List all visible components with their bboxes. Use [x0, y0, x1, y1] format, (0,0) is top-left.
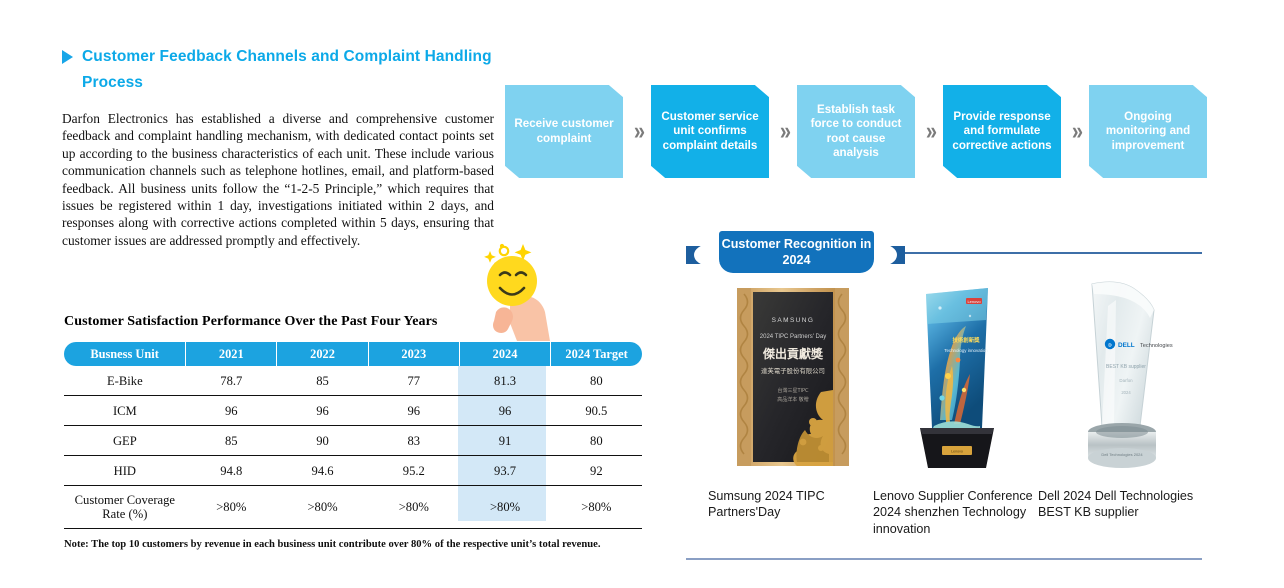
cell-2023: >80% [368, 486, 459, 529]
trophy-subtitle-line: Technology innovation [944, 348, 988, 353]
cell-2024: >80% [459, 486, 550, 529]
smiley-face-icon [487, 256, 537, 306]
award-media: 技術創新獎 Technology innovation Lenovo Lenov… [873, 276, 1038, 476]
column-header-2024: 2024 [459, 342, 550, 366]
cell-unit: ICM [64, 396, 186, 426]
cell-2022: >80% [277, 486, 368, 529]
award-item: SAMSUNG 2024 TIPC Partners' Day 傑出貢獻獎 達芙… [708, 276, 873, 537]
process-step-3: Establish task force to conduct root cau… [797, 85, 915, 178]
cell-2024-target: >80% [551, 486, 642, 529]
process-flow-diagram: Receive customer complaint » Customer se… [505, 85, 1207, 178]
recognition-ribbon-banner: Customer Recognition in 2024 [686, 228, 1206, 274]
table-row: E-Bike 78.7 85 77 81.3 80 [64, 366, 642, 396]
trophy-engraving: BEST KB supplier [1106, 364, 1146, 370]
process-step-label: Ongoing monitoring and improvement [1095, 110, 1201, 154]
page-title: Customer Feedback Channels and Complaint… [82, 44, 492, 96]
svg-text:Lenovo: Lenovo [951, 450, 963, 454]
dell-glass-trophy-award-icon: D DELL Technologies BEST KB supplier Dar… [1058, 276, 1184, 476]
cell-unit: GEP [64, 426, 186, 456]
cell-2022: 94.6 [277, 456, 368, 486]
ribbon-tail-right [871, 246, 905, 264]
column-header-2023: 2023 [368, 342, 459, 366]
column-header-2022: 2022 [277, 342, 368, 366]
table-row: GEP 85 90 83 91 80 [64, 426, 642, 456]
table-title: Customer Satisfaction Performance Over t… [64, 314, 437, 330]
plaque-award-name: 傑出貢獻獎 [761, 346, 823, 361]
award-item: D DELL Technologies BEST KB supplier Dar… [1038, 276, 1203, 537]
ribbon-tail-left [686, 246, 720, 264]
cell-unit: HID [64, 456, 186, 486]
section-heading: Customer Feedback Channels and Complaint… [62, 44, 512, 96]
process-step-label: Establish task force to conduct root cau… [803, 103, 909, 161]
trophy-engraving: 2024 [1121, 390, 1131, 395]
lenovo-crystal-trophy-award-icon: 技術創新獎 Technology innovation Lenovo Lenov… [896, 280, 1016, 476]
award-media: SAMSUNG 2024 TIPC Partners' Day 傑出貢獻獎 達芙… [708, 276, 873, 476]
award-media: D DELL Technologies BEST KB supplier Dar… [1038, 276, 1203, 476]
process-step-label: Customer service unit confirms complaint… [657, 110, 763, 154]
svg-text:Lenovo: Lenovo [967, 299, 981, 304]
cell-2024: 81.3 [459, 366, 550, 396]
cell-2023: 95.2 [368, 456, 459, 486]
cell-2021: 85 [186, 426, 277, 456]
cell-2024: 96 [459, 396, 550, 426]
cell-2024: 91 [459, 426, 550, 456]
cell-2024-target: 90.5 [551, 396, 642, 426]
satisfaction-table-wrapper: Busness Unit 2021 2022 2023 2024 2024 Ta… [64, 342, 642, 529]
column-header-business-unit: Busness Unit [64, 342, 186, 366]
process-arrow-1-icon: » [623, 117, 651, 147]
award-item: 技術創新獎 Technology innovation Lenovo Lenov… [873, 276, 1038, 537]
table-header-row: Busness Unit 2021 2022 2023 2024 2024 Ta… [64, 342, 642, 366]
process-step-5: Ongoing monitoring and improvement [1089, 85, 1207, 178]
sparkle-ring-icon [500, 247, 508, 255]
cell-2022: 85 [277, 366, 368, 396]
samsung-plaque-award-icon: SAMSUNG 2024 TIPC Partners' Day 傑出貢獻獎 達芙… [717, 280, 865, 476]
award-caption: Sumsung 2024 TIPC Partners'Day [708, 488, 873, 521]
cell-2023: 77 [368, 366, 459, 396]
plaque-subtext: 台灣三星TIPC [777, 387, 809, 394]
plaque-brand: SAMSUNG [771, 317, 814, 324]
cell-unit: E-Bike [64, 366, 186, 396]
process-step-2: Customer service unit confirms complaint… [651, 85, 769, 178]
table-row: HID 94.8 94.6 95.2 93.7 92 [64, 456, 642, 486]
cell-2024-target: 80 [551, 366, 642, 396]
process-arrow-2-icon: » [769, 117, 797, 147]
process-step-label: Provide response and formulate correctiv… [949, 110, 1055, 154]
panel-bottom-divider [686, 558, 1202, 560]
column-header-2021: 2021 [186, 342, 277, 366]
intro-paragraph: Darfon Electronics has established a div… [62, 110, 494, 249]
award-caption: Lenovo Supplier Conference 2024 shenzhen… [873, 488, 1038, 537]
cell-2021: 94.8 [186, 456, 277, 486]
trophy-base-engraving: Dell Technologies 2024 [1101, 452, 1143, 457]
cell-2023: 83 [368, 426, 459, 456]
process-step-1: Receive customer complaint [505, 85, 623, 178]
cell-2021: 78.7 [186, 366, 277, 396]
trophy-engraving: Darfon [1119, 378, 1133, 383]
award-caption: Dell 2024 Dell Technologies BEST KB supp… [1038, 488, 1203, 521]
cell-2024-target: 92 [551, 456, 642, 486]
customer-recognition-panel: Customer Recognition in 2024 [686, 228, 1206, 568]
awards-row: SAMSUNG 2024 TIPC Partners' Day 傑出貢獻獎 達芙… [708, 276, 1208, 537]
plaque-subtext: 高品洋本 敬贈 [777, 396, 809, 403]
svg-text:DELL: DELL [1118, 342, 1135, 349]
ribbon-title: Customer Recognition in 2024 [719, 231, 874, 273]
column-header-2024-target: 2024 Target [551, 342, 642, 366]
cell-unit: Customer Coverage Rate (%) [64, 486, 186, 529]
cell-2024-target: 80 [551, 426, 642, 456]
process-arrow-3-icon: » [915, 117, 943, 147]
triangle-right-icon [62, 50, 73, 64]
cell-2022: 90 [277, 426, 368, 456]
customer-satisfaction-table: Busness Unit 2021 2022 2023 2024 2024 Ta… [64, 342, 642, 529]
plaque-event: 2024 TIPC Partners' Day [759, 334, 825, 340]
svg-text:Technologies: Technologies [1140, 343, 1173, 349]
cell-2021: >80% [186, 486, 277, 529]
cell-2023: 96 [368, 396, 459, 426]
plaque-company: 達芙電子股份有限公司 [761, 366, 825, 375]
process-arrow-4-icon: » [1061, 117, 1089, 147]
table-note: Note: The top 10 customers by revenue in… [64, 539, 601, 550]
cell-2024: 93.7 [459, 456, 550, 486]
trophy-title-line: 技術創新獎 [952, 336, 980, 344]
process-step-4: Provide response and formulate correctiv… [943, 85, 1061, 178]
table-row: Customer Coverage Rate (%) >80% >80% >80… [64, 486, 642, 529]
cell-2022: 96 [277, 396, 368, 426]
trophy-top-logo: Lenovo [966, 298, 982, 304]
left-content-column: Customer Feedback Channels and Complaint… [62, 44, 512, 249]
hand-holding-smiley-face-icon [466, 236, 574, 341]
process-step-label: Receive customer complaint [511, 117, 617, 146]
table-row: ICM 96 96 96 96 90.5 [64, 396, 642, 426]
cell-2021: 96 [186, 396, 277, 426]
